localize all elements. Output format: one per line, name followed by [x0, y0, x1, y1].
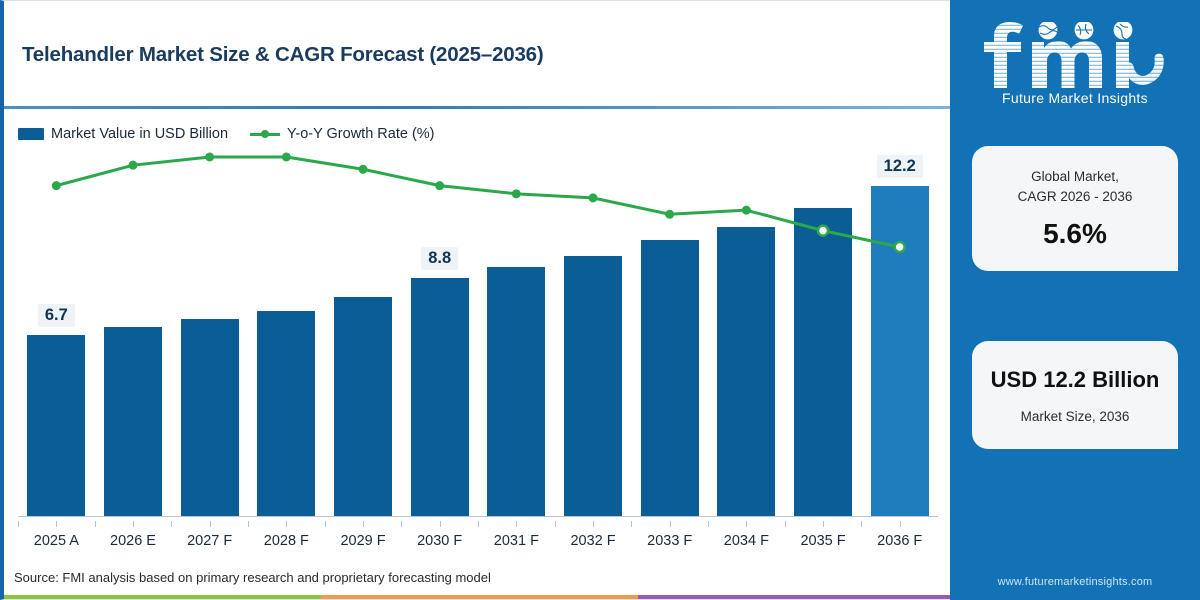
legend-item-market-value: Market Value in USD Billion — [18, 126, 228, 142]
x-axis-tick-label: 2032 F — [555, 521, 632, 549]
fmi-logo-svg — [980, 22, 1170, 88]
cagr-card-caption: Global Market, CAGR 2026 - 2036 — [1018, 167, 1133, 206]
bar-slot: 6.7 — [18, 151, 95, 516]
bar[interactable] — [641, 240, 699, 516]
cagr-card-caption-line1: Global Market, — [1018, 167, 1133, 187]
bar-value-label: 8.8 — [421, 247, 458, 270]
strip-orange — [321, 595, 638, 599]
bar-slot — [708, 151, 785, 516]
bar[interactable] — [181, 319, 239, 516]
x-axis-tick-label: 2031 F — [478, 521, 555, 549]
strip-purple — [638, 595, 950, 599]
cagr-card-value: 5.6% — [1043, 218, 1107, 250]
legend-bar-swatch-icon — [18, 128, 44, 140]
x-axis-tick-label: 2028 F — [248, 521, 325, 549]
strip-green — [4, 595, 321, 599]
chart-legend: Market Value in USD Billion Y-o-Y Growth… — [18, 126, 435, 142]
legend-label-market-value: Market Value in USD Billion — [51, 126, 228, 142]
x-axis-tick-label: 2036 F — [861, 521, 938, 549]
bar[interactable] — [794, 208, 852, 516]
website-url: www.futuremarketinsights.com — [950, 576, 1200, 588]
title-bar: Telehandler Market Size & CAGR Forecast … — [4, 1, 950, 108]
legend-label-growth-rate: Y-o-Y Growth Rate (%) — [287, 126, 434, 142]
bar[interactable] — [27, 335, 85, 516]
bar[interactable] — [334, 297, 392, 516]
bar-slot — [555, 151, 632, 516]
x-axis-tick-label: 2027 F — [171, 521, 248, 549]
bar[interactable] — [257, 311, 315, 516]
bar-value-label: 12.2 — [877, 155, 923, 178]
bar-slot — [248, 151, 325, 516]
chart-panel: Telehandler Market Size & CAGR Forecast … — [0, 0, 950, 600]
x-axis-tick-label: 2030 F — [401, 521, 478, 549]
bar-value-label: 6.7 — [38, 304, 75, 327]
bar[interactable] — [411, 278, 469, 516]
market-size-caption: Market Size, 2036 — [1021, 409, 1130, 424]
bar[interactable] — [871, 186, 929, 516]
bar-slot — [478, 151, 555, 516]
title-divider — [4, 106, 950, 109]
x-axis-labels: 2025 A2026 E2027 F2028 F2029 F2030 F2031… — [18, 521, 938, 549]
x-axis-tick-label: 2033 F — [631, 521, 708, 549]
x-axis-tick-label: 2035 F — [785, 521, 862, 549]
plot-area: 6.78.812.2 — [18, 151, 938, 516]
footer-color-strip — [4, 595, 950, 599]
x-axis-tick-label: 2029 F — [325, 521, 402, 549]
cagr-card-caption-line2: CAGR 2026 - 2036 — [1018, 187, 1133, 207]
x-axis-tick-label: 2034 F — [708, 521, 785, 549]
fmi-logo-tagline: Future Market Insights — [1002, 90, 1148, 106]
cagr-card: Global Market, CAGR 2026 - 2036 5.6% — [972, 146, 1178, 271]
x-axis-tick-label: 2025 A — [18, 521, 95, 549]
bar-slot — [171, 151, 248, 516]
bar[interactable] — [564, 256, 622, 516]
bar-series: 6.78.812.2 — [18, 151, 938, 516]
source-note: Source: FMI analysis based on primary re… — [14, 570, 491, 585]
page-title: Telehandler Market Size & CAGR Forecast … — [22, 43, 544, 67]
bar-slot — [95, 151, 172, 516]
bar-slot — [631, 151, 708, 516]
x-axis-line — [18, 516, 938, 517]
bar[interactable] — [717, 227, 775, 516]
bar-slot — [325, 151, 402, 516]
infographic-root: Telehandler Market Size & CAGR Forecast … — [0, 0, 1200, 600]
fmi-logo: Future Market Insights — [950, 8, 1200, 120]
bar-slot: 12.2 — [861, 151, 938, 516]
x-axis-tick-label: 2026 E — [95, 521, 172, 549]
bar[interactable] — [487, 267, 545, 516]
market-size-value: USD 12.2 Billion — [991, 367, 1160, 393]
legend-item-growth-rate: Y-o-Y Growth Rate (%) — [250, 126, 434, 142]
bar[interactable] — [104, 327, 162, 516]
market-size-card: USD 12.2 Billion Market Size, 2036 — [972, 341, 1178, 449]
legend-line-swatch-icon — [250, 128, 280, 140]
bar-slot — [785, 151, 862, 516]
sidebar: Future Market Insights Global Market, CA… — [950, 0, 1200, 600]
fmi-logo-wordmark-icon — [980, 22, 1170, 88]
bar-slot: 8.8 — [401, 151, 478, 516]
